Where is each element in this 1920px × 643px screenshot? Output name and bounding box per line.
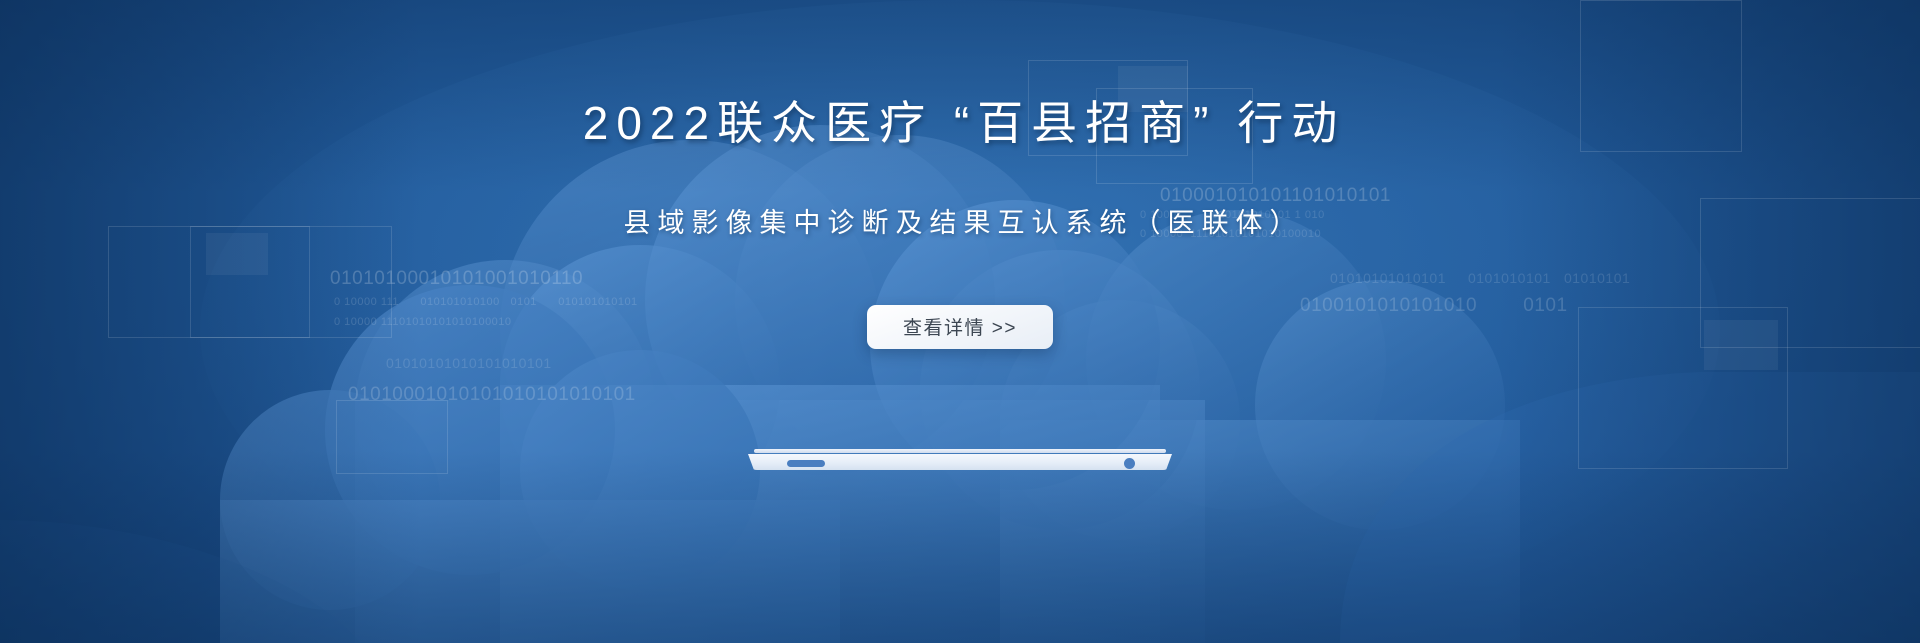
- promo-banner: 010101000101010010101100 10000 111 01010…: [0, 0, 1920, 643]
- view-details-button[interactable]: 查看详情 >>: [867, 305, 1053, 349]
- banner-subtitle: 县域影像集中诊断及结果互认系统（医联体）: [617, 201, 1304, 240]
- laptop-base-graphic: [748, 449, 1172, 473]
- laptop-screen-edge: [754, 449, 1166, 453]
- laptop-indicator-bar: [787, 460, 825, 467]
- banner-content: 2022联众医疗 “百县招商” 行动 县域影像集中诊断及结果互认系统（医联体） …: [0, 0, 1920, 643]
- laptop-indicator-dot: [1124, 458, 1135, 469]
- banner-title: 2022联众医疗 “百县招商” 行动: [575, 98, 1346, 149]
